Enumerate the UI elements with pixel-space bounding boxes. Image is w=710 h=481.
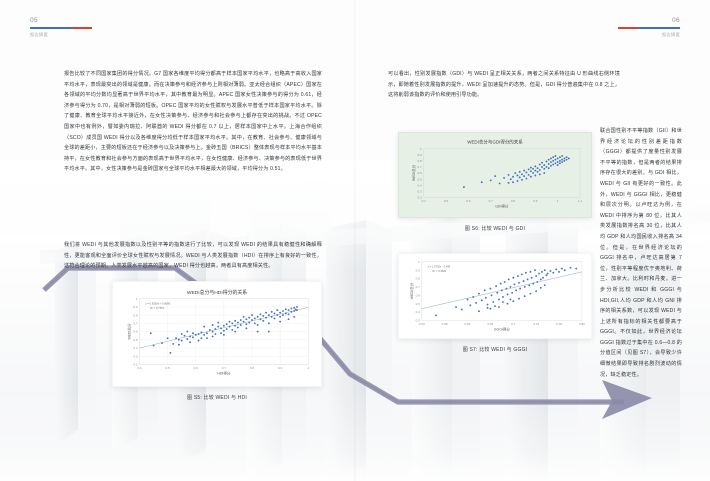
figure-s7: 0.30.40.50.60.70.80.910.540.580.620.660.… bbox=[398, 253, 592, 353]
svg-text:0.5: 0.5 bbox=[418, 177, 423, 181]
page-gutter bbox=[354, 0, 356, 481]
svg-text:0.7: 0.7 bbox=[416, 285, 421, 289]
svg-text:GDI得分: GDI得分 bbox=[495, 204, 509, 209]
svg-text:0.7: 0.7 bbox=[418, 165, 423, 169]
right-page-header: 06 报告摘要 bbox=[618, 16, 680, 38]
right-body-text: 可以看出，性别发展指数（GDI）与 WEDI 呈正相关关系，两者之间关系特征由 … bbox=[388, 69, 620, 109]
svg-text:0.7: 0.7 bbox=[511, 322, 516, 326]
svg-text:0.4: 0.4 bbox=[137, 366, 142, 370]
figure-s6: WEDI总分与GDI得分的关系 0.20.30.40.50.60.70.80.9… bbox=[398, 132, 592, 232]
svg-text:0.5: 0.5 bbox=[166, 366, 171, 370]
svg-text:0.9: 0.9 bbox=[533, 199, 538, 203]
figure-s7-chart-panel: 0.30.40.50.60.70.80.910.540.580.620.660.… bbox=[398, 253, 592, 339]
scatter-chart-s7: 0.30.40.50.60.70.80.910.540.580.620.660.… bbox=[399, 254, 591, 338]
left-page-header: 05 报告摘要 bbox=[30, 16, 92, 38]
svg-text:WEDI总分: WEDI总分 bbox=[411, 164, 416, 181]
svg-text:y = 0.8258x + 0.0689: y = 0.8258x + 0.0689 bbox=[145, 302, 170, 306]
svg-text:0.62: 0.62 bbox=[465, 322, 471, 326]
paragraph: 我们将 WEDI 与其他发展指数以及性别平等的指数进行了比较，可以发现 WEDI… bbox=[64, 240, 322, 272]
svg-text:0.82: 0.82 bbox=[579, 322, 585, 326]
svg-text:0.3: 0.3 bbox=[133, 354, 138, 358]
scatter-chart-s6: WEDI总分与GDI得分的关系 0.20.30.40.50.60.70.80.9… bbox=[399, 133, 591, 217]
svg-text:0.9: 0.9 bbox=[418, 153, 423, 157]
left-header-subtitle: 报告摘要 bbox=[30, 31, 92, 38]
svg-text:0.6: 0.6 bbox=[418, 171, 423, 175]
svg-text:0.6: 0.6 bbox=[466, 199, 471, 203]
document-page: 05 报告摘要 06 报告摘要 报告比较了不同国家集团的得分情况。G7 国家各维… bbox=[0, 0, 710, 481]
svg-text:0.6: 0.6 bbox=[194, 366, 199, 370]
right-page-number: 06 bbox=[618, 16, 680, 25]
svg-text:0.5: 0.5 bbox=[416, 302, 421, 306]
svg-text:R² = 0.3620: R² = 0.3620 bbox=[432, 269, 446, 273]
svg-text:1: 1 bbox=[136, 297, 138, 301]
svg-text:0.8: 0.8 bbox=[416, 277, 421, 281]
svg-text:0.9: 0.9 bbox=[133, 305, 138, 309]
svg-text:0.8: 0.8 bbox=[250, 366, 255, 370]
svg-text:1: 1 bbox=[557, 199, 559, 203]
paragraph: 报告比较了不同国家集团的得分情况。G7 国家各维度平均得分都高于样本国家平均水平… bbox=[64, 69, 322, 175]
svg-text:0.7: 0.7 bbox=[222, 366, 227, 370]
svg-text:0.8: 0.8 bbox=[133, 313, 138, 317]
svg-text:0.58: 0.58 bbox=[442, 322, 448, 326]
svg-text:0.66: 0.66 bbox=[487, 322, 493, 326]
paragraph: 可以看出，性别发展指数（GDI）与 WEDI 呈正相关关系，两者之间关系特征由 … bbox=[388, 69, 620, 101]
svg-text:WEDI总分: WEDI总分 bbox=[127, 323, 132, 340]
svg-text:0.6: 0.6 bbox=[416, 293, 421, 297]
svg-text:1: 1 bbox=[418, 260, 420, 264]
svg-text:HDI得分: HDI得分 bbox=[217, 371, 231, 376]
left-page-number: 05 bbox=[30, 16, 92, 25]
svg-text:0.74: 0.74 bbox=[533, 322, 539, 326]
svg-text:0.8: 0.8 bbox=[418, 159, 423, 163]
figure-s5: WEDI总分与HDI得分的关系 0.20.30.40.50.60.70.80.9… bbox=[112, 281, 322, 401]
svg-text:0.9: 0.9 bbox=[416, 268, 421, 272]
left-header-rule bbox=[30, 27, 92, 29]
right-header-rule bbox=[618, 27, 680, 29]
svg-text:0.7: 0.7 bbox=[133, 322, 138, 326]
figure-s6-caption: 图 S6: 比较 WEDI 与 GDI bbox=[398, 225, 592, 232]
svg-text:0.4: 0.4 bbox=[133, 346, 138, 350]
figure-s5-caption: 图 S5: 比较 WEDI 与 HDI bbox=[112, 394, 322, 401]
svg-text:1: 1 bbox=[420, 147, 422, 151]
right-narrow-body-text: 联合国性别不平等指数（GII）和世界经济论坛的性别差距指数（GGGI）都提供了度… bbox=[600, 126, 682, 380]
svg-text:1.1: 1.1 bbox=[578, 199, 583, 203]
svg-text:0.5: 0.5 bbox=[133, 338, 138, 342]
figure-s6-chart-panel: WEDI总分与GDI得分的关系 0.20.30.40.50.60.70.80.9… bbox=[398, 132, 592, 218]
svg-text:0.54: 0.54 bbox=[419, 322, 425, 326]
svg-text:WEDI总分: WEDI总分 bbox=[409, 283, 414, 300]
svg-text:0.3: 0.3 bbox=[418, 190, 423, 194]
svg-text:0.9: 0.9 bbox=[278, 366, 283, 370]
svg-text:0.4: 0.4 bbox=[418, 183, 423, 187]
svg-text:y = 1.5702x - 0.408: y = 1.5702x - 0.408 bbox=[428, 265, 451, 269]
figure-s7-caption: 图 S7: 比较 WEDI 与 GGGI bbox=[398, 346, 592, 353]
svg-text:0.5: 0.5 bbox=[444, 199, 449, 203]
figure-s5-chart-panel: WEDI总分与HDI得分的关系 0.20.30.40.50.60.70.80.9… bbox=[112, 281, 322, 387]
svg-text:0.8: 0.8 bbox=[511, 199, 516, 203]
chart-title-s5: WEDI总分与HDI得分的关系 bbox=[187, 289, 247, 296]
svg-text:0.7: 0.7 bbox=[489, 199, 494, 203]
svg-text:0.4: 0.4 bbox=[422, 199, 427, 203]
svg-text:GGGI得分: GGGI得分 bbox=[494, 327, 511, 332]
chart-title-s6: WEDI总分与GDI得分的关系 bbox=[467, 139, 523, 146]
svg-text:0.4: 0.4 bbox=[416, 310, 421, 314]
left-body-text-lower: 我们将 WEDI 与其他发展指数以及性别平等的指数进行了比较，可以发现 WEDI… bbox=[64, 240, 322, 280]
right-header-subtitle: 报告摘要 bbox=[618, 31, 680, 38]
svg-text:1: 1 bbox=[307, 366, 309, 370]
scatter-chart-s5: WEDI总分与HDI得分的关系 0.20.30.40.50.60.70.80.9… bbox=[113, 282, 321, 386]
svg-text:0.6: 0.6 bbox=[133, 330, 138, 334]
svg-text:0.78: 0.78 bbox=[556, 322, 562, 326]
paragraph: 联合国性别不平等指数（GII）和世界经济论坛的性别差距指数（GGGI）都提供了度… bbox=[600, 126, 682, 380]
left-body-text: 报告比较了不同国家集团的得分情况。G7 国家各维度平均得分都高于样本国家平均水平… bbox=[64, 69, 322, 183]
svg-text:R² = 0.7351: R² = 0.7351 bbox=[150, 306, 164, 310]
